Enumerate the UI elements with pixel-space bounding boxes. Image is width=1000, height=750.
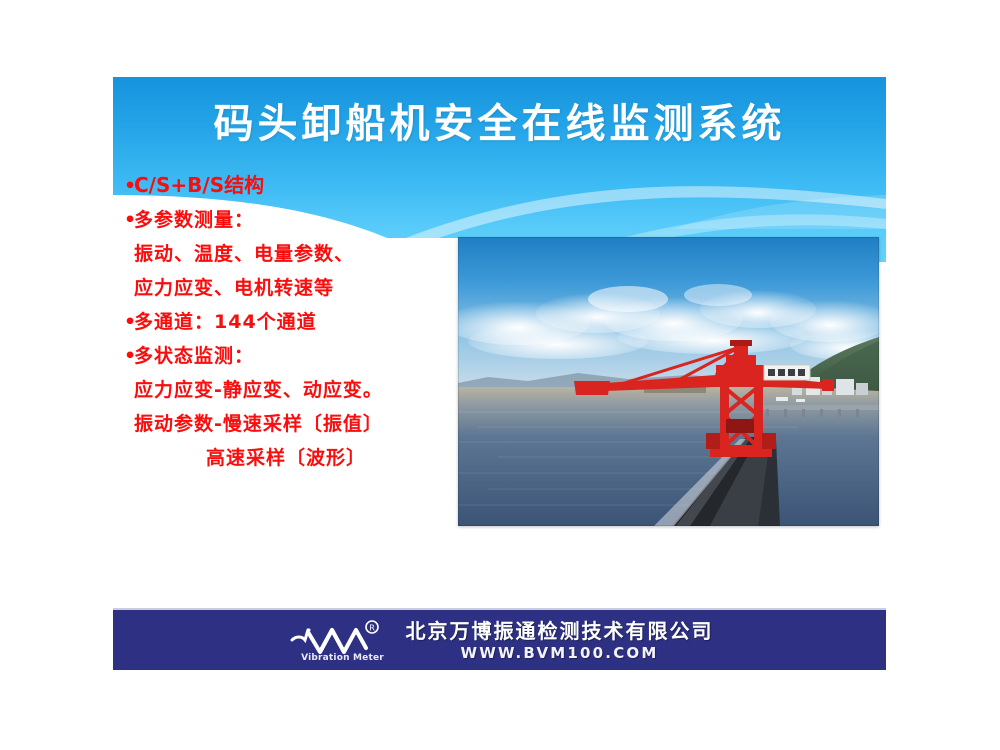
bullet-item-7: 振动参数-慢速采样〔振值〕 <box>124 407 454 441</box>
footer-text-block: 北京万博振通检测技术有限公司 WWW.BVM100.COM <box>406 621 714 661</box>
bullet-list: •C/S+B/S结构 •多参数测量： 振动、温度、电量参数、 应力应变、电机转速… <box>124 168 454 475</box>
bullet-text-5: 多状态监测： <box>134 345 254 367</box>
bullet-item-1: •多参数测量： <box>124 203 454 237</box>
bullet-marker-4: • <box>124 305 134 339</box>
bullet-text-0: C/S+B/S结构 <box>134 173 264 197</box>
bullet-text-3: 应力应变、电机转速等 <box>134 277 334 299</box>
bullet-marker-0: • <box>124 169 134 203</box>
bullet-text-8: 高速采样〔波形〕 <box>206 447 366 469</box>
bullet-text-4: 多通道：144个通道 <box>134 311 317 333</box>
bullet-item-2: 振动、温度、电量参数、 <box>124 237 454 271</box>
vibration-meter-logo: R Vibration Meter <box>286 618 392 664</box>
bullet-item-4: •多通道：144个通道 <box>124 305 454 339</box>
port-crane-illustration <box>458 237 879 526</box>
svg-text:R: R <box>369 624 375 633</box>
slide-canvas: 码头卸船机安全在线监测系统 •C/S+B/S结构 •多参数测量： 振动、温度、电… <box>0 0 1000 750</box>
port-crane-photo <box>458 237 879 526</box>
bullet-item-3: 应力应变、电机转速等 <box>124 271 454 305</box>
bullet-text-7: 振动参数-慢速采样〔振值〕 <box>134 413 383 435</box>
bullet-text-6: 应力应变-静应变、动应变。 <box>134 379 383 401</box>
bullet-marker-1: • <box>124 203 134 237</box>
footer-content: R Vibration Meter 北京万博振通检测技术有限公司 WWW.BVM… <box>286 618 714 664</box>
bullet-text-2: 振动、温度、电量参数、 <box>134 243 354 265</box>
bullet-text-1: 多参数测量： <box>134 209 254 231</box>
crane-signboard <box>764 365 810 380</box>
bullet-item-5: •多状态监测： <box>124 339 454 373</box>
company-name: 北京万博振通检测技术有限公司 <box>406 621 714 641</box>
bullet-marker-5: • <box>124 339 134 373</box>
logo-caption: Vibration Meter <box>294 653 392 663</box>
bullet-item-8: 高速采样〔波形〕 <box>124 441 454 475</box>
page-title: 码头卸船机安全在线监测系统 <box>113 100 886 148</box>
footer-bar: R Vibration Meter 北京万博振通检测技术有限公司 WWW.BVM… <box>113 608 886 670</box>
company-url[interactable]: WWW.BVM100.COM <box>461 646 659 661</box>
bullet-item-0: •C/S+B/S结构 <box>124 168 454 203</box>
bullet-item-6: 应力应变-静应变、动应变。 <box>124 373 454 407</box>
far-jetty <box>758 405 879 410</box>
